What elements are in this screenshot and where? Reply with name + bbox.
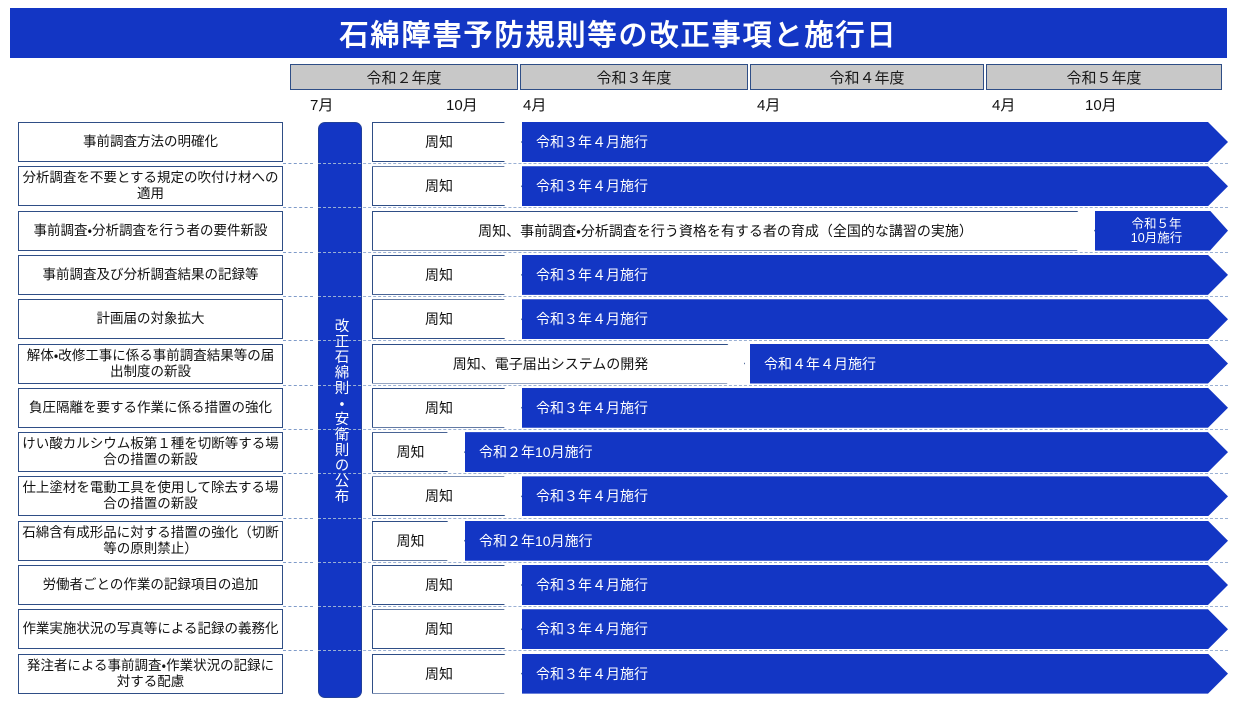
- notice-phase-chevron[interactable]: 周知: [372, 122, 522, 162]
- notice-phase-label: 周知: [425, 664, 453, 684]
- enforcement-phase-label: 令和３年４月施行: [536, 132, 648, 152]
- enforcement-phase-label: 令和３年４月施行: [536, 664, 648, 684]
- slide-canvas: 石綿障害予防規則等の改正事項と施行日 令和２年度令和３年度令和４年度令和５年度 …: [0, 0, 1237, 712]
- row-separator: [318, 473, 1228, 474]
- notice-phase-label: 周知: [425, 486, 453, 506]
- notice-phase-label: 周知: [425, 398, 453, 418]
- notice-phase-chevron[interactable]: 周知: [372, 521, 465, 561]
- enforcement-phase-label: 令和３年４月施行: [536, 398, 648, 418]
- notice-phase-label: 周知: [425, 309, 453, 329]
- label-connector-line: [283, 252, 313, 253]
- notice-phase-label: 周知: [425, 265, 453, 285]
- enforcement-phase-label: 令和４年４月施行: [764, 354, 876, 374]
- row-separator: [318, 207, 1228, 208]
- notice-phase-label: 周知: [397, 531, 425, 551]
- enforcement-phase-label: 令和３年４月施行: [536, 486, 648, 506]
- enforcement-date-badge[interactable]: 令和５年10月施行: [1095, 211, 1228, 251]
- row-separator: [318, 518, 1228, 519]
- enforcement-phase-label: 令和３年４月施行: [536, 575, 648, 595]
- month-tick-label: 7月: [310, 94, 333, 115]
- enforcement-phase-label: 令和３年４月施行: [536, 619, 648, 639]
- enforcement-phase-label: 令和３年４月施行: [536, 176, 648, 196]
- enforcement-phase-arrow[interactable]: 令和４年４月施行: [750, 344, 1228, 384]
- notice-phase-chevron[interactable]: 周知: [372, 166, 522, 206]
- month-tick-label: 4月: [757, 94, 780, 115]
- notice-phase-label: 周知: [425, 132, 453, 152]
- enforcement-date-badge-line2: 10月施行: [1131, 231, 1182, 245]
- label-connector-line: [283, 207, 313, 208]
- label-connector-line: [283, 429, 313, 430]
- notice-phase-chevron[interactable]: 周知、電子届出システムの開発: [372, 344, 745, 384]
- notice-phase-label: 周知: [425, 575, 453, 595]
- notice-phase-label: 周知、事前調査・分析調査を行う資格を有する者の育成（全国的な講習の実施）: [478, 221, 973, 241]
- timeline-row: 周知令和３年４月施行: [0, 388, 1237, 428]
- timeline-row: 周知令和２年10月施行: [0, 521, 1237, 561]
- label-connector-line: [283, 340, 313, 341]
- notice-phase-chevron[interactable]: 周知: [372, 565, 522, 605]
- row-separator: [318, 429, 1228, 430]
- row-separator: [318, 385, 1228, 386]
- notice-phase-chevron[interactable]: 周知: [372, 654, 522, 694]
- timeline-row: 周知令和３年４月施行: [0, 565, 1237, 605]
- enforcement-date-badge-line1: 令和５年: [1131, 217, 1181, 231]
- timeline-row: 周知令和３年４月施行: [0, 122, 1237, 162]
- label-connector-line: [283, 385, 313, 386]
- timeline-row: 周知、電子届出システムの開発令和４年４月施行: [0, 344, 1237, 384]
- row-separator: [318, 606, 1228, 607]
- enforcement-phase-arrow[interactable]: 令和３年４月施行: [522, 654, 1228, 694]
- timeline-row: 周知令和３年４月施行: [0, 166, 1237, 206]
- fiscal-year-label: 令和４年度: [829, 67, 904, 88]
- label-connector-line: [283, 606, 313, 607]
- enforcement-phase-arrow[interactable]: 令和３年４月施行: [522, 166, 1228, 206]
- notice-phase-chevron[interactable]: 周知: [372, 255, 522, 295]
- enforcement-phase-arrow[interactable]: 令和３年４月施行: [522, 299, 1228, 339]
- timeline-row: 周知令和３年４月施行: [0, 476, 1237, 516]
- page-title: 石綿障害予防規則等の改正事項と施行日: [339, 12, 897, 54]
- enforcement-phase-arrow[interactable]: 令和３年４月施行: [522, 609, 1228, 649]
- enforcement-phase-label: 令和３年４月施行: [536, 309, 648, 329]
- timeline-row: 周知令和３年４月施行: [0, 299, 1237, 339]
- timeline-row: 周知令和２年10月施行: [0, 432, 1237, 472]
- fiscal-year-cell: 令和４年度: [750, 64, 984, 90]
- enforcement-phase-arrow[interactable]: 令和２年10月施行: [465, 521, 1228, 561]
- fiscal-year-cell: 令和３年度: [520, 64, 748, 90]
- label-connector-line: [283, 296, 313, 297]
- notice-phase-chevron[interactable]: 周知: [372, 476, 522, 516]
- slide-title-band: 石綿障害予防規則等の改正事項と施行日: [10, 8, 1227, 58]
- timeline-row: 周知、事前調査・分析調査を行う資格を有する者の育成（全国的な講習の実施）令和５年…: [0, 211, 1237, 251]
- enforcement-phase-arrow[interactable]: 令和３年４月施行: [522, 255, 1228, 295]
- notice-phase-label: 周知: [397, 442, 425, 462]
- enforcement-phase-label: 令和３年４月施行: [536, 265, 648, 285]
- enforcement-phase-label: 令和２年10月施行: [479, 442, 593, 462]
- notice-phase-label: 周知: [425, 176, 453, 196]
- enforcement-phase-label: 令和２年10月施行: [479, 531, 593, 551]
- row-separator: [318, 252, 1228, 253]
- row-separator: [318, 650, 1228, 651]
- fiscal-year-cell: 令和５年度: [986, 64, 1222, 90]
- enforcement-phase-arrow[interactable]: 令和３年４月施行: [522, 122, 1228, 162]
- fiscal-year-label: 令和５年度: [1066, 67, 1141, 88]
- label-connector-line: [283, 473, 313, 474]
- enforcement-phase-arrow[interactable]: 令和３年４月施行: [522, 388, 1228, 428]
- enforcement-phase-arrow[interactable]: 令和３年４月施行: [522, 565, 1228, 605]
- notice-phase-chevron[interactable]: 周知: [372, 609, 522, 649]
- notice-phase-chevron[interactable]: 周知: [372, 299, 522, 339]
- timeline-row: 周知令和３年４月施行: [0, 255, 1237, 295]
- fiscal-year-label: 令和２年度: [366, 67, 441, 88]
- row-separator: [318, 562, 1228, 563]
- month-tick-label: 4月: [992, 94, 1015, 115]
- month-tick-label: 10月: [446, 94, 478, 115]
- label-connector-line: [283, 163, 313, 164]
- notice-phase-chevron[interactable]: 周知: [372, 388, 522, 428]
- month-tick-label: 10月: [1085, 94, 1117, 115]
- notice-phase-label: 周知: [425, 619, 453, 639]
- row-separator: [318, 296, 1228, 297]
- notice-phase-chevron[interactable]: 周知、事前調査・分析調査を行う資格を有する者の育成（全国的な講習の実施）: [372, 211, 1095, 251]
- label-connector-line: [283, 518, 313, 519]
- fiscal-year-label: 令和３年度: [596, 67, 671, 88]
- notice-phase-chevron[interactable]: 周知: [372, 432, 465, 472]
- row-separator: [318, 340, 1228, 341]
- notice-phase-label: 周知、電子届出システムの開発: [453, 354, 649, 374]
- row-separator: [318, 163, 1228, 164]
- label-connector-line: [283, 562, 313, 563]
- timeline-row: 周知令和３年４月施行: [0, 609, 1237, 649]
- timeline-row: 周知令和３年４月施行: [0, 654, 1237, 694]
- enforcement-phase-arrow[interactable]: 令和２年10月施行: [465, 432, 1228, 472]
- month-tick-label: 4月: [523, 94, 546, 115]
- fiscal-year-cell: 令和２年度: [290, 64, 518, 90]
- enforcement-phase-arrow[interactable]: 令和３年４月施行: [522, 476, 1228, 516]
- label-connector-line: [283, 650, 313, 651]
